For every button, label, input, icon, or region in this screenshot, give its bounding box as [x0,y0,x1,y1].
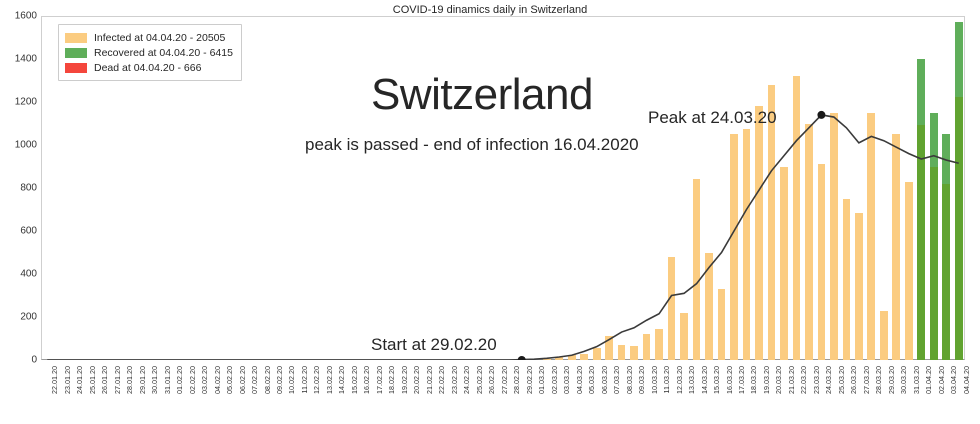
x-axis-tick: 15.03.20 [712,366,721,394]
x-axis-tick: 28.02.20 [512,366,521,394]
legend-item-dead: Dead at 04.04.20 - 666 [65,60,233,75]
x-axis-tick: 24.03.20 [824,366,833,394]
chart-legend: Infected at 04.04.20 - 20505 Recovered a… [58,24,242,81]
x-axis-tick: 01.02.20 [175,366,184,394]
annotation-peak: Peak at 24.03.20 [648,108,777,128]
y-axis-tick: 600 [3,226,37,237]
x-axis-tick: 06.02.20 [238,366,247,394]
y-axis-tick: 200 [3,312,37,323]
x-axis-tick: 04.03.20 [575,366,584,394]
x-axis-tick: 16.02.20 [362,366,371,394]
x-axis-tick: 17.02.20 [375,366,384,394]
x-axis-tick: 22.01.20 [50,366,59,394]
x-axis-tick: 27.01.20 [113,366,122,394]
x-axis-tick: 20.02.20 [412,366,421,394]
x-axis-tick: 29.03.20 [887,366,896,394]
x-axis-tick: 26.03.20 [849,366,858,394]
legend-swatch-infected [65,33,87,43]
x-axis-tick: 21.03.20 [787,366,796,394]
x-axis-tick: 11.02.20 [300,366,309,393]
x-axis-tick: 28.03.20 [874,366,883,394]
x-axis-tick: 08.03.20 [625,366,634,394]
legend-item-recovered: Recovered at 04.04.20 - 6415 [65,45,233,60]
x-axis-tick: 29.01.20 [138,366,147,394]
x-axis-tick: 02.04.20 [937,366,946,394]
y-axis: 02004006008001000120014001600 [0,0,37,424]
x-axis-tick: 25.02.20 [475,366,484,394]
legend-label-recovered: Recovered at 04.04.20 - 6415 [94,47,233,59]
y-axis-tick: 800 [3,183,37,194]
x-axis-tick: 28.01.20 [125,366,134,394]
x-axis-tick: 23.03.20 [812,366,821,394]
x-axis-tick: 03.02.20 [200,366,209,394]
x-axis: 22.01.2023.01.2024.01.2025.01.2026.01.20… [41,360,965,424]
x-axis-tick: 26.02.20 [487,366,496,394]
legend-swatch-recovered [65,48,87,58]
legend-label-infected: Infected at 04.04.20 - 20505 [94,32,225,44]
x-axis-tick: 13.03.20 [687,366,696,394]
x-axis-tick: 07.02.20 [250,366,259,394]
x-axis-tick: 08.02.20 [263,366,272,394]
x-axis-tick: 26.01.20 [100,366,109,394]
x-axis-tick: 25.03.20 [837,366,846,394]
y-axis-tick: 1400 [3,54,37,65]
chart-title: COVID-19 dinamics daily in Switzerland [0,4,980,16]
x-axis-tick: 02.02.20 [188,366,197,394]
x-axis-tick: 10.03.20 [650,366,659,394]
x-axis-tick: 09.03.20 [637,366,646,394]
legend-swatch-dead [65,63,87,73]
x-axis-tick: 02.03.20 [550,366,559,394]
x-axis-tick: 04.02.20 [213,366,222,394]
x-axis-tick: 16.03.20 [725,366,734,394]
x-axis-tick: 09.02.20 [275,366,284,394]
x-axis-tick: 23.02.20 [450,366,459,394]
x-axis-tick: 31.01.20 [163,366,172,394]
x-axis-tick: 15.02.20 [350,366,359,394]
x-axis-tick: 07.03.20 [612,366,621,394]
x-axis-tick: 19.03.20 [762,366,771,394]
legend-item-infected: Infected at 04.04.20 - 20505 [65,30,233,45]
x-axis-tick: 17.03.20 [737,366,746,394]
y-axis-tick: 0 [3,355,37,366]
x-axis-tick: 05.02.20 [225,366,234,394]
y-axis-tick: 1600 [3,11,37,22]
y-axis-tick: 400 [3,269,37,280]
x-axis-tick: 30.01.20 [150,366,159,394]
x-axis-tick: 10.02.20 [287,366,296,394]
x-axis-tick: 18.02.20 [387,366,396,394]
x-axis-tick: 25.01.20 [88,366,97,394]
x-axis-tick: 24.02.20 [462,366,471,394]
x-axis-tick: 27.02.20 [500,366,509,394]
x-axis-tick: 04.04.20 [962,366,971,394]
covid-chart-figure: COVID-19 dinamics daily in Switzerland 0… [0,0,980,424]
annotation-start: Start at 29.02.20 [371,335,497,355]
y-axis-tick: 1200 [3,97,37,108]
x-axis-tick: 14.03.20 [700,366,709,394]
annotation-peak-passed: peak is passed - end of infection 16.04.… [305,135,639,155]
x-axis-tick: 20.03.20 [774,366,783,394]
x-axis-tick: 01.03.20 [537,366,546,394]
x-axis-tick: 23.01.20 [63,366,72,394]
x-axis-tick: 13.02.20 [325,366,334,394]
x-axis-tick: 18.03.20 [749,366,758,394]
x-axis-tick: 11.03.20 [662,366,671,393]
legend-label-dead: Dead at 04.04.20 - 666 [94,62,201,74]
x-axis-tick: 12.03.20 [675,366,684,394]
x-axis-tick: 03.03.20 [562,366,571,394]
x-axis-tick: 03.04.20 [949,366,958,394]
x-axis-tick: 22.02.20 [437,366,446,394]
x-axis-tick: 21.02.20 [425,366,434,394]
x-axis-tick: 14.02.20 [337,366,346,394]
x-axis-tick: 27.03.20 [862,366,871,394]
annotation-country: Switzerland [371,70,593,120]
x-axis-tick: 22.03.20 [799,366,808,394]
x-axis-tick: 01.04.20 [924,366,933,394]
y-axis-tick: 1000 [3,140,37,151]
x-axis-tick: 24.01.20 [75,366,84,394]
x-axis-tick: 12.02.20 [312,366,321,394]
x-axis-tick: 05.03.20 [587,366,596,394]
x-axis-tick: 19.02.20 [400,366,409,394]
x-axis-tick: 31.03.20 [912,366,921,394]
peak-marker [817,111,825,119]
x-axis-tick: 30.03.20 [899,366,908,394]
x-axis-tick: 06.03.20 [600,366,609,394]
x-axis-tick: 29.02.20 [525,366,534,394]
